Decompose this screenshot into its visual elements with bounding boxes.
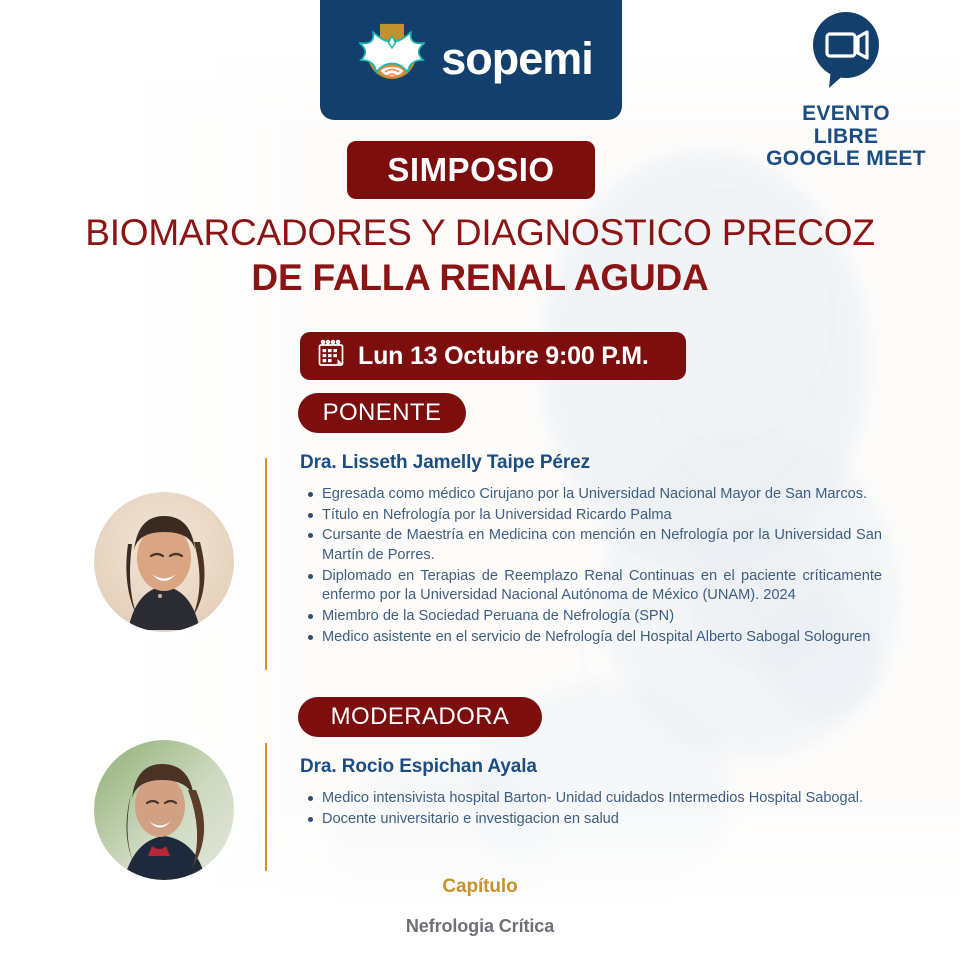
list-item: Egresada como médico Cirujano por la Uni… (322, 485, 882, 505)
video-camera-bubble-icon (809, 10, 883, 97)
calendar-icon (316, 339, 346, 374)
list-item: Cursante de Maestría en Medicina con men… (322, 526, 882, 565)
sopemi-logo-banner: sopemi (320, 0, 622, 120)
moderator-bio: Dra. Rocio Espichan Ayala Medico intensi… (300, 756, 882, 830)
event-date-badge: Lun 13 Octubre 9:00 P.M. (300, 332, 686, 380)
google-meet-block: EVENTO LIBRE GOOGLE MEET (748, 10, 944, 171)
meet-line-google-meet: GOOGLE MEET (748, 148, 944, 171)
moderator-credentials-list: Medico intensivista hospital Barton- Uni… (300, 789, 882, 829)
sopemi-wordmark: sopemi (441, 36, 593, 85)
role-badge-ponente: PONENTE (298, 393, 466, 433)
title-line-1: BIOMARCADORES Y DIAGNOSTICO PRECOZ (0, 212, 960, 253)
list-item: Docente universitario e investigacion en… (322, 810, 882, 830)
list-item: Medico intensivista hospital Barton- Uni… (322, 789, 882, 809)
moderator-avatar (94, 740, 234, 880)
simposio-badge: SIMPOSIO (347, 141, 595, 199)
role-badge-moderadora-label: MODERADORA (331, 703, 510, 731)
footer-chapter-name: Nefrologia Crítica (0, 916, 960, 937)
role-badge-moderadora: MODERADORA (298, 697, 542, 737)
list-item: Miembro de la Sociedad Peruana de Nefrol… (322, 607, 882, 627)
speaker-bio: Dra. Lisseth Jamelly Taipe Pérez Egresad… (300, 452, 882, 649)
section-divider-speaker (265, 458, 267, 670)
event-date-text: Lun 13 Octubre 9:00 P.M. (358, 342, 649, 371)
meet-line-libre: LIBRE (748, 126, 944, 149)
footer-chapter-label: Capítulo (0, 876, 960, 898)
speaker-avatar (94, 492, 234, 632)
moderator-name: Dra. Rocio Espichan Ayala (300, 756, 882, 778)
list-item: Diplomado en Terapias de Reemplazo Renal… (322, 567, 882, 606)
role-badge-ponente-label: PONENTE (323, 399, 442, 427)
speaker-credentials-list: Egresada como médico Cirujano por la Uni… (300, 485, 882, 648)
speaker-name: Dra. Lisseth Jamelly Taipe Pérez (300, 452, 882, 474)
poster-footer: Capítulo Nefrologia Crítica (0, 876, 960, 937)
list-item: Medico asistente en el servicio de Nefro… (322, 628, 882, 648)
meet-line-evento: EVENTO (748, 103, 944, 126)
section-divider-moderator (265, 743, 267, 871)
dove-shield-logo-icon (349, 17, 435, 103)
poster-title: BIOMARCADORES Y DIAGNOSTICO PRECOZ DE FA… (0, 212, 960, 299)
simposio-badge-label: SIMPOSIO (387, 151, 554, 189)
event-poster: sopemi EVENTO LIBRE GOOGLE MEET (0, 0, 960, 960)
list-item: Título en Nefrología por la Universidad … (322, 506, 882, 526)
title-line-2: DE FALLA RENAL AGUDA (0, 257, 960, 298)
